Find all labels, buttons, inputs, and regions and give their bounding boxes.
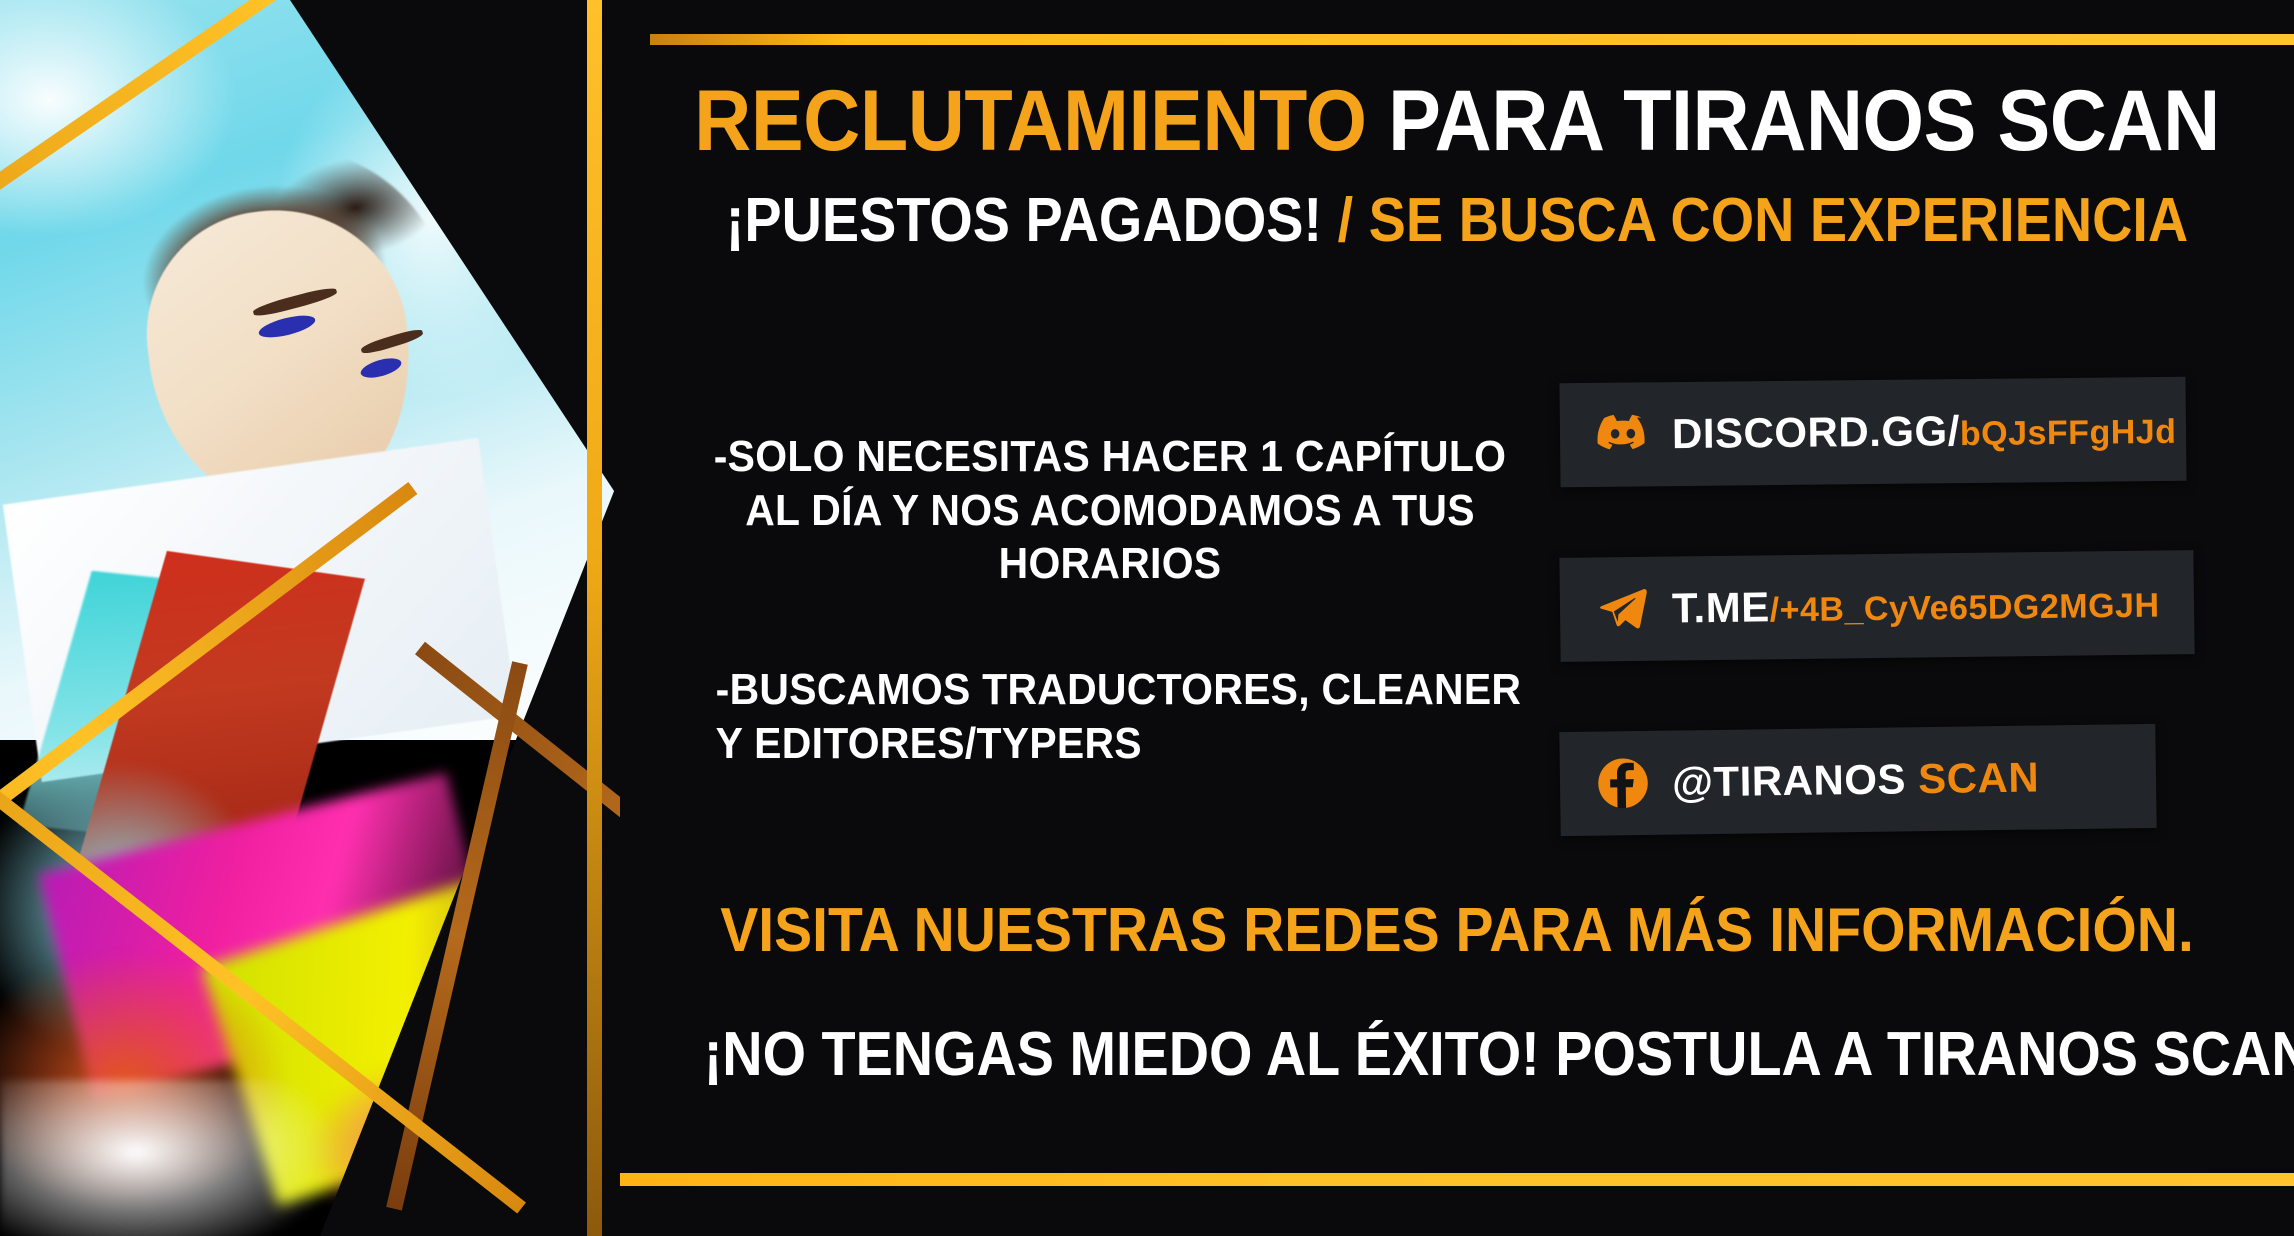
contact-telegram-code: /+4B_CyVe65DG2MGJH xyxy=(1769,587,2159,630)
recruitment-banner: RECLUTAMIENTO PARA TIRANOS SCAN ¡PUESTOS… xyxy=(0,0,2294,1236)
subtitle: ¡PUESTOS PAGADOS! / SE BUSCA CON EXPERIE… xyxy=(704,190,2211,252)
contact-facebook-text: @TIRANOS SCAN xyxy=(1672,753,2040,806)
contact-telegram[interactable]: T.ME/+4B_CyVe65DG2MGJH xyxy=(1559,550,2194,662)
subtitle-experience: SE BUSCA CON EXPERIENCIA xyxy=(1369,186,2189,255)
content-panel: RECLUTAMIENTO PARA TIRANOS SCAN ¡PUESTOS… xyxy=(620,0,2294,1236)
requirement-item-roles: -BUSCAMOS TRADUCTORES, CLEANER Y EDITORE… xyxy=(692,663,1529,770)
call-to-action: VISITA NUESTRAS REDES PARA MÁS INFORMACI… xyxy=(620,900,2294,1086)
telegram-icon xyxy=(1596,582,1651,637)
contact-discord-prefix: DISCORD.GG/ xyxy=(1672,407,1960,457)
artwork-black-wedge-top-right xyxy=(290,0,620,500)
discord-icon xyxy=(1596,407,1651,462)
contact-facebook-handle: @TIRANOS xyxy=(1672,755,1907,805)
contact-discord-text: DISCORD.GG/bQJsFFgHJd xyxy=(1672,405,2177,458)
cta-line-visit-networks: VISITA NUESTRAS REDES PARA MÁS INFORMACI… xyxy=(687,900,2227,962)
artwork-white-glow xyxy=(0,1080,340,1236)
contact-list: DISCORD.GG/bQJsFFgHJd T.ME/+4B_CyVe65DG2… xyxy=(1560,380,2160,832)
page-title-highlight: RECLUTAMIENTO xyxy=(694,73,1366,169)
artwork-panel xyxy=(0,0,620,1236)
requirement-item-schedule: -SOLO NECESITAS HACER 1 CAPÍTULO AL DÍA … xyxy=(692,430,1529,591)
gold-vertical-divider xyxy=(587,0,602,1236)
contact-discord[interactable]: DISCORD.GG/bQJsFFgHJd xyxy=(1559,377,2186,488)
cta-line-apply: ¡NO TENGAS MIEDO AL ÉXITO! POSTULA A TIR… xyxy=(704,1024,2211,1086)
facebook-icon xyxy=(1596,756,1651,811)
page-title: RECLUTAMIENTO PARA TIRANOS SCAN xyxy=(687,78,2227,164)
contact-telegram-text: T.ME/+4B_CyVe65DG2MGJH xyxy=(1672,579,2160,633)
contact-facebook[interactable]: @TIRANOS SCAN xyxy=(1559,724,2156,836)
contact-telegram-prefix: T.ME xyxy=(1672,583,1770,631)
subtitle-separator: / xyxy=(1338,186,1354,255)
contact-discord-code: bQJsFFgHJd xyxy=(1960,413,2177,453)
gold-rule-bottom xyxy=(620,1173,2294,1186)
requirements-list: -SOLO NECESITAS HACER 1 CAPÍTULO AL DÍA … xyxy=(660,430,1560,770)
gold-rule-top xyxy=(650,34,2294,45)
page-title-rest: PARA TIRANOS SCAN xyxy=(1388,73,2220,169)
contact-facebook-suffix: SCAN xyxy=(1918,753,2040,802)
subtitle-paid-positions: ¡PUESTOS PAGADOS! xyxy=(726,186,1322,255)
